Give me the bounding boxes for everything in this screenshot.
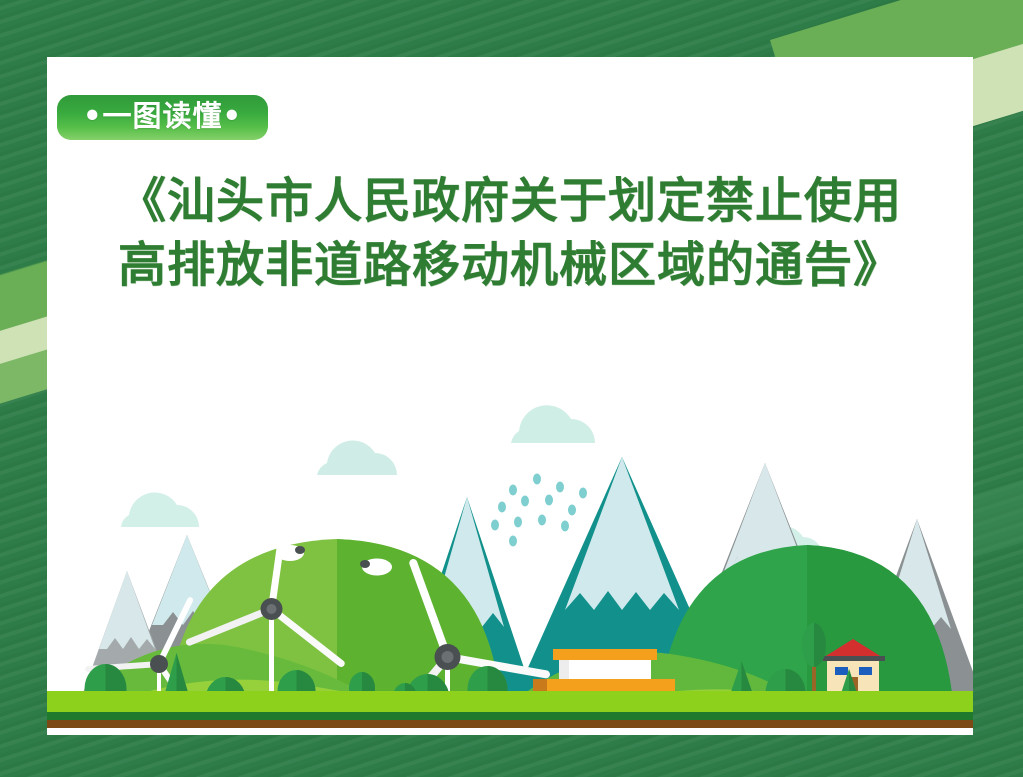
cloud-icon <box>511 405 595 443</box>
card-bottom-margin <box>47 728 973 735</box>
page-title-line-1: 《汕头市人民政府关于划定禁止使用 <box>47 169 973 233</box>
page-title: 《汕头市人民政府关于划定禁止使用 高排放非道路移动机械区域的通告》 <box>47 169 973 297</box>
page-root: •一图读懂• 《汕头市人民政府关于划定禁止使用 高排放非道路移动机械区域的通告》 <box>0 0 1023 777</box>
infographic-badge: •一图读懂• <box>57 95 268 140</box>
raindrops-icon <box>491 474 587 547</box>
mountain-cap <box>565 457 679 610</box>
eco-landscape-illustration <box>47 307 973 735</box>
cloud-icon <box>317 440 397 475</box>
page-title-line-2: 高排放非道路移动机械区域的通告》 <box>47 233 973 297</box>
grass-strip <box>47 691 973 713</box>
content-card: •一图读懂• 《汕头市人民政府关于划定禁止使用 高排放非道路移动机械区域的通告》 <box>47 57 973 735</box>
cloud-icon <box>121 492 199 527</box>
mountain-cap <box>99 571 155 649</box>
